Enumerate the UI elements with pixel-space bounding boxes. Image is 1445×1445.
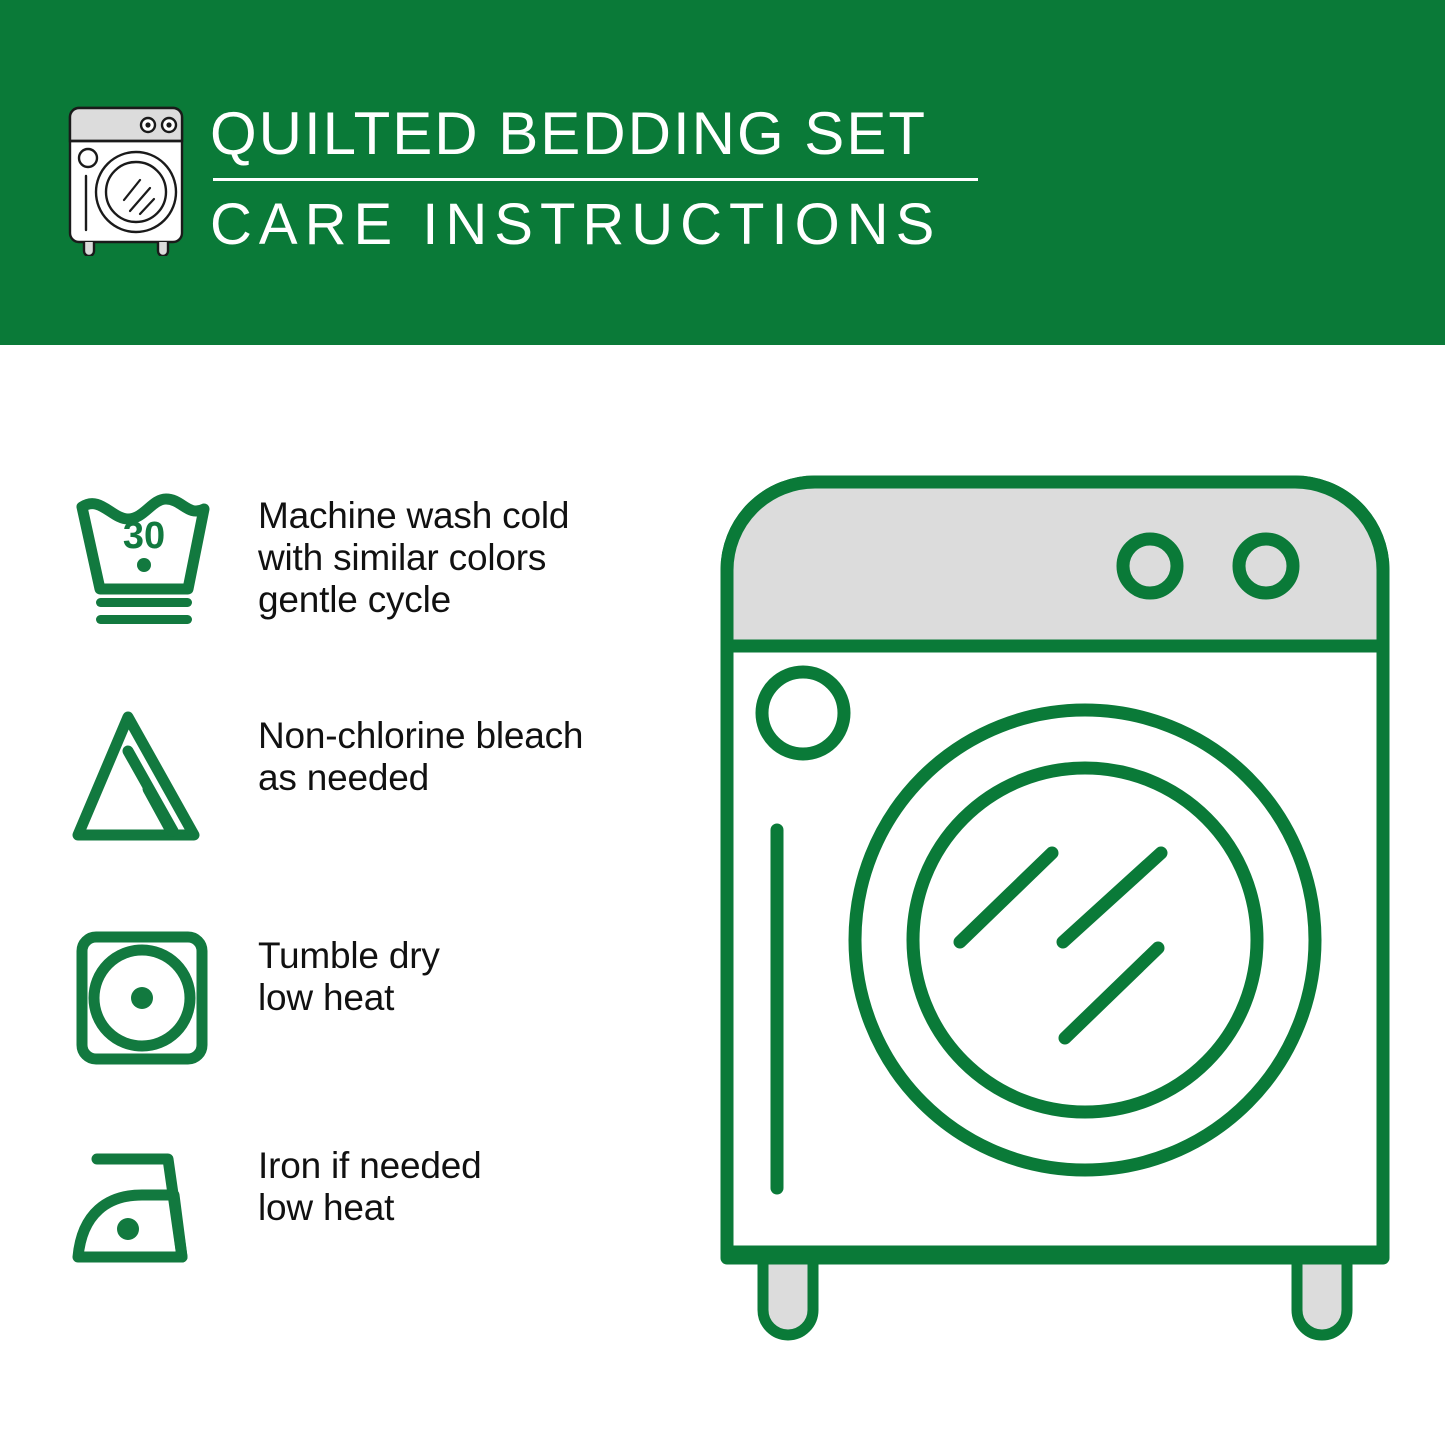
care-line: Non-chlorine bleach [258,715,583,757]
care-label-iron: Iron if needed low heat [258,1135,481,1229]
care-row-iron: Iron if needed low heat [70,1135,690,1285]
care-row-machine-wash: 30 Machine wash cold with similar colors… [70,485,690,635]
tumble-dry-low-icon [70,925,230,1075]
care-instruction-list: 30 Machine wash cold with similar colors… [0,345,700,1445]
control-panel [727,482,1383,646]
wash-tub-30-icon: 30 [70,485,230,635]
care-row-tumble-dry: Tumble dry low heat [70,925,690,1075]
care-label-bleach: Non-chlorine bleach as needed [258,705,583,799]
washing-machine-illustration [715,470,1405,1360]
care-line: with similar colors [258,537,569,579]
care-line: as needed [258,757,583,799]
care-line: low heat [258,977,440,1019]
care-row-bleach: Non-chlorine bleach as needed [70,705,690,855]
bleach-triangle-icon [70,705,230,855]
care-line: gentle cycle [258,579,569,621]
care-label-tumble-dry: Tumble dry low heat [258,925,440,1019]
care-line: low heat [258,1187,481,1229]
header-band: QUILTED BEDDING SET CARE INSTRUCTIONS [0,0,1445,345]
wash-temperature-label: 30 [123,515,165,557]
care-line: Tumble dry [258,935,440,977]
title-divider [213,178,978,181]
washing-machine-icon [66,104,186,256]
care-line: Iron if needed [258,1145,481,1187]
page-subtitle: CARE INSTRUCTIONS [210,193,1000,257]
page-title: QUILTED BEDDING SET [210,100,1000,168]
care-instructions-infographic: QUILTED BEDDING SET CARE INSTRUCTIONS 30… [0,0,1445,1445]
iron-low-heat-icon [70,1135,230,1285]
care-line: Machine wash cold [258,495,569,537]
care-label-machine-wash: Machine wash cold with similar colors ge… [258,485,569,621]
header-text-block: QUILTED BEDDING SET CARE INSTRUCTIONS [210,100,1000,257]
